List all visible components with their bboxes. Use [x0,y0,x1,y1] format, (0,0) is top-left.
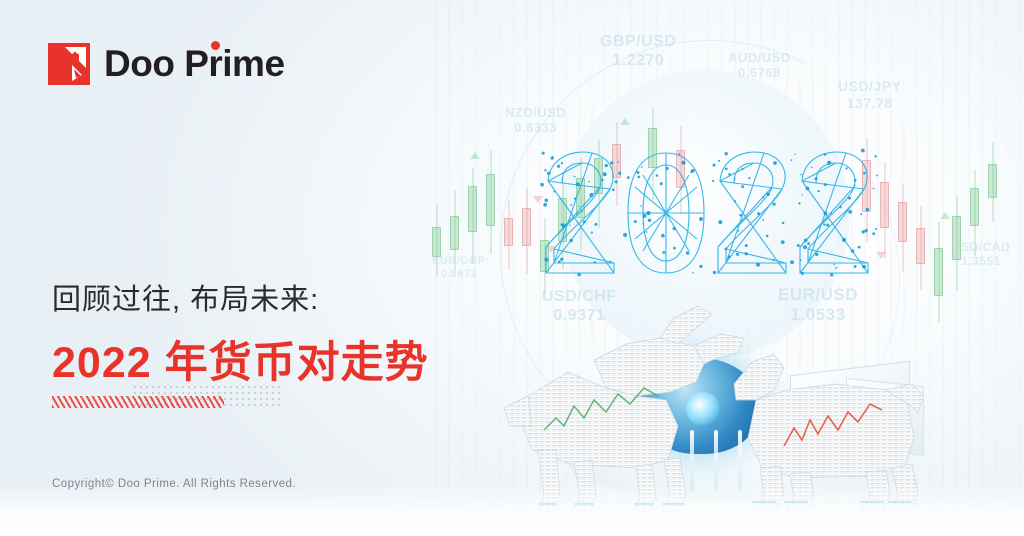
candle-wick [992,142,993,222]
fx-quote-nzd-usd: NZD/USD0.6333 [505,105,566,136]
wireframe-node [612,188,615,191]
fx-pair-label: NZD/USD [505,105,566,120]
wireframe-node [734,200,736,202]
wireframe-node [544,258,548,262]
candlestick [450,190,459,270]
trend-marker-up [620,118,630,125]
wireframe-node [678,153,680,155]
wireframe-node [591,232,593,234]
wireframe-node [634,220,637,223]
candlestick [504,200,513,270]
wireframe-node [824,153,827,156]
fx-price-value: 137.78 [838,95,901,112]
wireframe-node [692,272,694,274]
wireframe-node [874,155,876,157]
wireframe-node [601,179,603,181]
candle-wick [938,222,939,322]
wireframe-node [798,202,800,204]
candle-body [522,208,531,246]
wireframe-node [845,167,847,169]
candle-wick [974,170,975,256]
wireframe-node [728,255,731,258]
wireframe-node [648,219,651,222]
fx-price-value: 0.6768 [728,65,791,80]
wireframe-node [540,183,544,187]
candlestick [486,150,495,254]
wireframe-node [542,152,545,155]
candle-wick [508,200,509,270]
fx-pair-label: USD/CAD [952,240,1010,254]
wireframe-node [804,239,808,243]
candle-body [934,248,943,296]
wireframe-node [646,231,648,233]
wireframe-node [594,223,597,226]
wireframe-node [736,253,739,256]
wireframe-node [826,224,829,227]
wireframe-node [801,272,804,275]
wireframe-node [577,273,581,277]
wireframe-node [827,161,831,165]
wireframe-node [713,271,716,274]
wireframe-node [742,168,744,170]
candle-wick [902,184,903,272]
wireframe-node [862,265,866,269]
wireframe-node [576,182,580,186]
wireframe-node [610,161,613,164]
fx-quote-gbp-usd: GBP/USD1.2270 [600,33,676,71]
candlestick [432,205,441,277]
fx-price-value: 1.2270 [600,52,676,71]
wireframe-node [790,159,792,161]
wireframe-node [817,190,819,192]
fx-quote-usd-jpy: USD/JPY137.78 [838,78,901,111]
promo-banner: GBP/USD1.2270AUD/USD0.6768USD/JPY137.78N… [0,0,1024,536]
candle-body [504,218,513,246]
candlestick [898,184,907,272]
wireframe-node [656,174,659,177]
logo-dot [211,41,220,50]
decorative-hatch-bar [52,396,224,408]
candle-body [432,227,441,257]
wireframe-node [544,169,546,171]
copyright-text: Copyright© Doo Prime. All Rights Reserve… [52,478,296,490]
wireframe-node [578,206,580,208]
wireframe-node [713,164,716,167]
candlestick [934,222,943,322]
wireframe-node [762,196,764,198]
wireframe-node [562,224,566,228]
fx-quote-eur-usd: EUR/USD1.0533 [778,285,858,325]
wireframe-node [858,246,861,249]
candlestick [988,142,997,222]
wireframe-node [873,188,875,190]
candle-body [970,188,979,226]
candle-wick [472,168,473,264]
wireframe-node [811,167,812,168]
wireframe-node [569,239,572,242]
wireframe-node [724,247,727,250]
wireframe-node [627,176,630,179]
wireframe-node [795,153,797,155]
wireframe-node [610,261,612,263]
wireframe-node [618,172,621,175]
decorative-accent [52,390,284,412]
wireframe-node [557,165,560,168]
wireframe-node [834,264,836,266]
brand-logo[interactable]: Doo Prime [48,43,285,85]
wireframe-node [712,180,714,182]
candlestick [468,168,477,264]
fx-pair-label: AUD/USD [728,50,791,65]
candlestick [880,162,889,258]
fx-pair-label: EUR/USD [778,285,858,305]
wireframe-node [830,212,832,214]
bear-figure [726,342,936,514]
fx-quote-usd-cad: USD/CAD1.3551 [952,240,1010,268]
wireframe-node [646,211,650,215]
wireframe-node [552,156,553,157]
wireframe-node [642,214,646,218]
fx-pair-label: EUR/GBP [432,255,486,268]
wireframe-node [790,260,794,264]
wireframe-node [835,267,837,269]
wireframe-node [570,204,572,206]
wireframe-node [718,160,720,162]
wireframe-node [830,273,833,276]
wireframe-node [673,247,676,250]
wireframe-node [547,171,551,175]
wireframe-node [582,210,584,212]
fx-price-value: 1.0533 [778,305,858,325]
fx-price-value: 0.6333 [505,120,566,135]
wireframe-node [637,176,640,179]
wireframe-node [854,184,856,186]
candle-wick [526,188,527,274]
wireframe-node [558,260,561,263]
wireframe-node [661,234,665,238]
wireframe-node [800,259,802,261]
headline-block: 回顾过往, 布局未来: 2022 年货币对走势 [52,276,429,390]
wireframe-node [643,223,645,225]
wireframe-node [875,228,877,230]
candle-body [450,216,459,250]
wireframe-node [560,258,563,261]
candle-wick [884,162,885,258]
fx-quote-aud-usd: AUD/USD0.6768 [728,50,791,81]
wireframe-node [574,176,576,178]
wireframe-node [690,171,692,173]
trend-marker-up [470,152,480,159]
wireframe-node [665,167,668,170]
trend-marker-up [940,212,950,219]
wireframe-node [741,185,744,188]
wireframe-node [803,245,807,249]
wireframe-node [605,164,608,167]
candle-wick [920,206,921,290]
wireframe-node [544,198,548,202]
bull-figure [498,300,758,515]
wireframe-node [772,202,775,205]
wireframe-node [594,261,596,263]
candle-body [916,228,925,264]
wireframe-node [641,166,643,168]
wireframe-node [848,197,851,200]
wireframe-node [615,180,618,183]
wireframe-node [815,177,818,180]
wireframe-node [583,220,586,223]
doo-prime-logo-mark-icon [48,43,90,85]
fx-price-value: 1.3551 [952,254,1010,268]
brand-name: Doo Prime [104,43,285,85]
wireframe-node [806,186,810,190]
wireframe-node [673,227,676,230]
candle-wick [454,190,455,270]
wireframe-node [699,217,703,221]
wireframe-node [823,224,825,226]
wireframe-node [860,213,862,215]
wireframe-node [866,208,870,212]
wireframe-node [863,172,866,175]
wireframe-node [854,265,857,268]
page-title: 2022 年货币对走势 [52,328,429,390]
wireframe-node [756,263,760,267]
wireframe-node [824,183,827,186]
wireframe-node [636,171,639,174]
wireframe-node [745,244,748,247]
wireframe-node [569,224,571,226]
candlestick [952,196,961,290]
wireframe-node [800,174,802,176]
wireframe-node [561,162,563,164]
candle-body [486,174,495,226]
wireframe-node [588,181,590,183]
wireframe-node [662,251,665,254]
fx-quote-eur-gbp: EUR/GBP0.8673 [432,255,486,281]
candle-body [898,202,907,242]
wireframe-node [854,179,857,182]
wireframe-node [603,172,607,176]
year-2022-wireframe [540,145,880,280]
wireframe-node [865,229,868,232]
wireframe-node [725,168,728,171]
wireframe-node [876,174,878,176]
wireframe-node [734,178,736,180]
wireframe-node [802,194,803,195]
wireframe-node [842,238,846,242]
wireframe-node [848,210,852,214]
wireframe-node [782,222,785,225]
wireframe-node [807,242,810,245]
fx-price-value: 0.8673 [432,268,486,281]
candle-body [952,216,961,260]
candle-body [468,186,477,232]
wireframe-node [797,244,800,247]
wireframe-node [543,203,547,207]
fx-pair-label: USD/JPY [838,78,901,95]
wireframe-node [748,177,750,179]
wireframe-node [762,219,764,221]
wireframe-node [574,197,576,199]
candle-wick [436,205,437,277]
candle-body [988,164,997,198]
wireframe-node [617,161,619,163]
candle-body [880,182,889,228]
wireframe-node [772,259,774,261]
candlestick [916,206,925,290]
fx-pair-label: GBP/USD [600,33,676,52]
candlestick [970,170,979,256]
wireframe-node [757,212,760,215]
wireframe-node [699,265,702,268]
wireframe-node [773,161,777,165]
wireframe-node [686,251,690,255]
wireframe-node [872,232,875,235]
candle-wick [956,196,957,290]
wireframe-node [861,149,865,153]
wireframe-node [681,161,685,165]
wireframe-node [718,220,722,224]
wireframe-node [815,253,818,256]
wireframe-node [589,193,593,197]
wireframe-node [862,230,865,233]
wireframe-node [553,191,555,193]
headline-subtitle: 回顾过往, 布局未来: [52,276,429,318]
wireframe-node [745,252,748,255]
wireframe-node [824,212,828,216]
wireframe-node [839,206,841,208]
wireframe-node [851,249,854,252]
wireframe-node [725,152,728,155]
wireframe-node [728,173,731,176]
wireframe-node [660,182,663,185]
candle-wick [490,150,491,254]
wireframe-node [623,233,627,237]
wireframe-node [781,240,785,244]
wireframe-node [737,230,739,232]
wireframe-node [739,214,742,217]
wireframe-node [640,205,642,207]
wireframe-node [766,235,769,238]
wireframe-node [577,213,579,215]
wireframe-node [766,192,770,196]
candlestick [522,188,531,274]
